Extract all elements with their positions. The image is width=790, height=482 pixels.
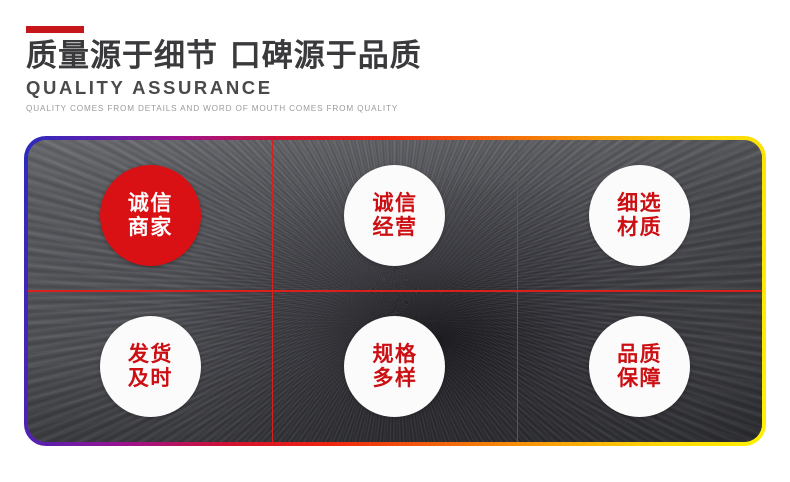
- page-subtitle-english: QUALITY COMES FROM DETAILS AND WORD OF M…: [26, 104, 766, 113]
- header: 质量源于细节 口碑源于品质 QUALITY ASSURANCE QUALITY …: [26, 26, 766, 113]
- badge-line-1: 发货: [128, 343, 173, 367]
- badge-line-2: 多样: [372, 367, 417, 391]
- feature-cell-3: 细选 材质: [517, 140, 762, 291]
- feature-grid: 诚信 商家 诚信 经营 细选 材质 发货 及时: [28, 140, 762, 442]
- feature-cell-5: 规格 多样: [273, 291, 518, 442]
- accent-bar: [26, 26, 84, 33]
- badge-line-2: 材质: [617, 216, 662, 240]
- feature-badge-honest-operation[interactable]: 诚信 经营: [344, 165, 445, 266]
- feature-panel-border: 诚信 商家 诚信 经营 细选 材质 发货 及时: [24, 136, 766, 446]
- badge-line-1: 诚信: [128, 192, 173, 216]
- feature-panel: 诚信 商家 诚信 经营 细选 材质 发货 及时: [28, 140, 762, 442]
- badge-line-1: 品质: [617, 343, 662, 367]
- page-title-english: QUALITY ASSURANCE: [26, 77, 766, 99]
- badge-line-1: 细选: [617, 192, 662, 216]
- badge-line-2: 经营: [372, 216, 417, 240]
- feature-badge-timely-shipping[interactable]: 发货 及时: [100, 316, 201, 417]
- feature-badge-trusted-merchant[interactable]: 诚信 商家: [100, 165, 201, 266]
- badge-line-1: 诚信: [372, 192, 417, 216]
- badge-line-2: 及时: [128, 367, 173, 391]
- feature-cell-1: 诚信 商家: [28, 140, 273, 291]
- feature-cell-4: 发货 及时: [28, 291, 273, 442]
- feature-badge-various-specs[interactable]: 规格 多样: [344, 316, 445, 417]
- feature-badge-quality-guarantee[interactable]: 品质 保障: [589, 316, 690, 417]
- page-title-chinese: 质量源于细节 口碑源于品质: [26, 40, 766, 73]
- badge-line-1: 规格: [372, 343, 417, 367]
- feature-cell-2: 诚信 经营: [273, 140, 518, 291]
- feature-cell-6: 品质 保障: [517, 291, 762, 442]
- feature-badge-selected-material[interactable]: 细选 材质: [589, 165, 690, 266]
- badge-line-2: 保障: [617, 367, 662, 391]
- badge-line-2: 商家: [128, 216, 173, 240]
